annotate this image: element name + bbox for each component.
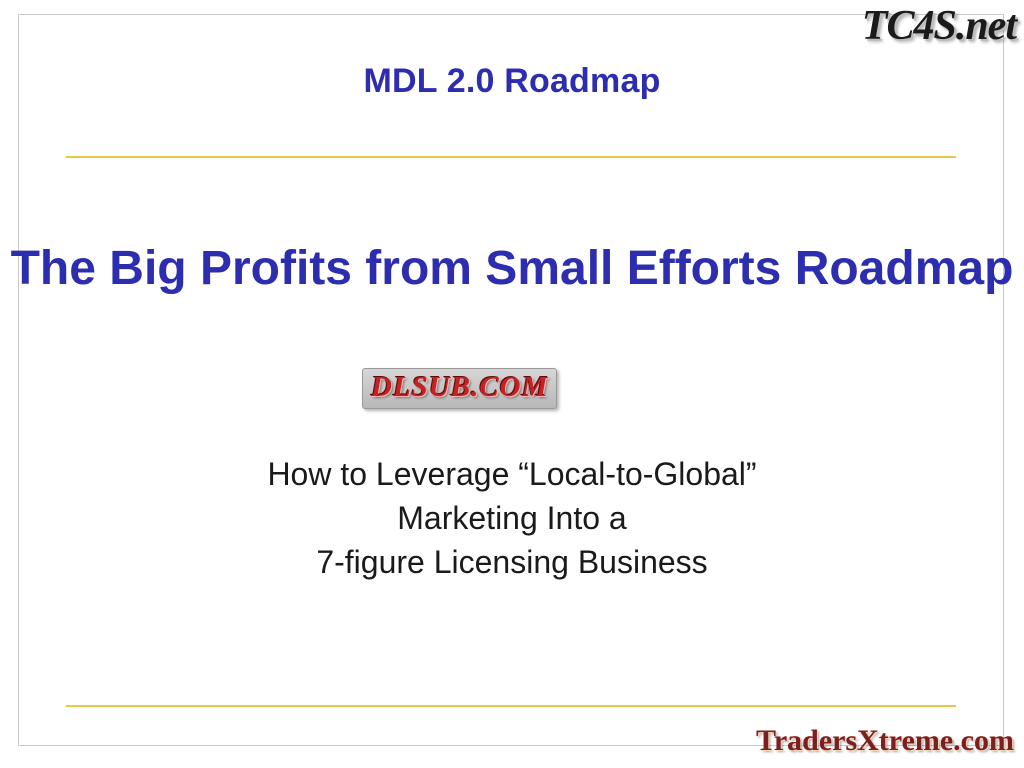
headline-line-2: Small Efforts Roadmap (485, 242, 1013, 295)
slide-headline: The Big Profits from Small Efforts Roadm… (0, 240, 1024, 299)
headline-line-1: The Big Profits from (11, 242, 472, 295)
watermark-top-right: TC4S.net (862, 2, 1016, 50)
divider-top (66, 156, 956, 158)
slide-canvas: MDL 2.0 Roadmap The Big Profits from Sma… (0, 0, 1024, 768)
subhead-line-3: 7-figure Licensing Business (0, 540, 1024, 584)
slide-subheadline: How to Leverage “Local-to-Global” Market… (0, 452, 1024, 584)
watermark-center-text: DLSUB.COM (371, 371, 548, 403)
subhead-line-2: Marketing Into a (0, 496, 1024, 540)
watermark-center: DLSUB.COM (362, 368, 557, 409)
subhead-line-1: How to Leverage “Local-to-Global” (0, 452, 1024, 496)
watermark-bottom-right: TradersXtreme.com (756, 724, 1014, 758)
slide-title: MDL 2.0 Roadmap (0, 62, 1024, 101)
divider-bottom (66, 705, 956, 707)
